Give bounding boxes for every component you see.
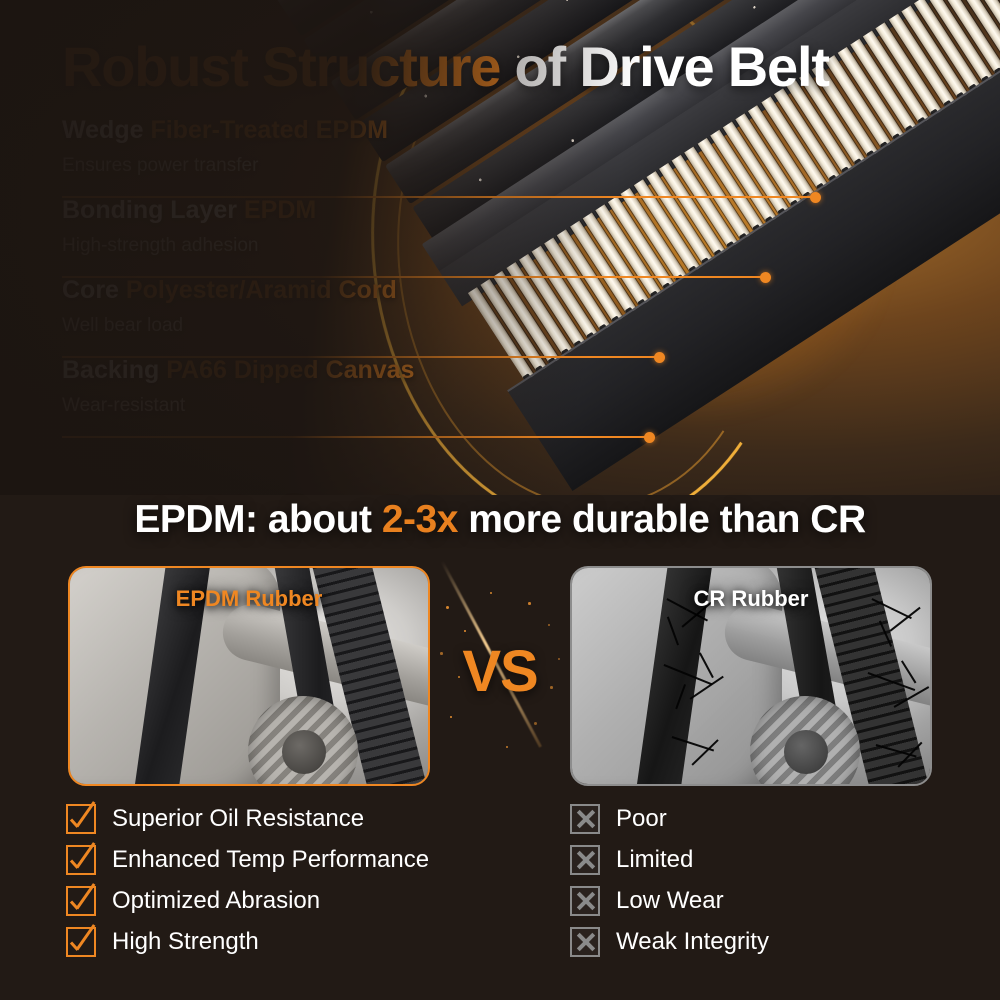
- connector-dot: [644, 432, 655, 443]
- spark-particle: [446, 606, 449, 609]
- cord-filament: [567, 216, 648, 333]
- list-item-label: Weak Integrity: [616, 928, 769, 956]
- structure-row: Core Polyester/Aramid CordWell bear load: [62, 278, 814, 358]
- page-title: Robust Structure of Drive Belt: [62, 34, 829, 99]
- spark-particle: [506, 746, 508, 748]
- cord-filament: [936, 0, 1000, 92]
- structure-row-sub: Ensures power transfer: [62, 155, 814, 177]
- spark-particle: [450, 716, 452, 718]
- cord-layer: [468, 0, 1000, 394]
- cord-filament: [503, 257, 584, 374]
- check-icon: [66, 927, 96, 957]
- backing-tooth: [854, 158, 888, 205]
- amber-arc-decoration-secondary: [373, 0, 793, 495]
- backing-tooth: [548, 357, 582, 404]
- backing-tooth: [892, 133, 926, 180]
- list-item-label: Low Wear: [616, 887, 724, 915]
- spark-particle: [534, 722, 537, 725]
- cross-icon: [570, 804, 600, 834]
- list-item: Weak Integrity: [570, 921, 769, 962]
- connector-dot: [760, 272, 771, 283]
- pulley-hub-shape: [282, 730, 326, 774]
- cord-filament: [962, 0, 1000, 76]
- card-label-cr: CR Rubber: [572, 586, 930, 612]
- list-item-label: Limited: [616, 846, 693, 874]
- cross-icon: [570, 927, 600, 957]
- structure-row-heading: Core Polyester/Aramid Cord: [62, 278, 814, 303]
- cord-filament: [796, 67, 877, 184]
- cord-filament: [758, 92, 839, 209]
- backing-tooth: [599, 323, 633, 370]
- spark-particle: [464, 630, 466, 632]
- list-item: Superior Oil Resistance: [66, 798, 429, 839]
- structure-row-list: Wedge Fiber-Treated EPDMEnsures power tr…: [62, 118, 814, 438]
- cord-filament: [974, 0, 1000, 68]
- cord-filament: [885, 9, 966, 126]
- cord-filament: [516, 249, 597, 366]
- cord-filament: [528, 241, 609, 358]
- cord-filament: [847, 34, 928, 151]
- cord-filament: [770, 83, 851, 200]
- cord-filament: [592, 199, 673, 316]
- cord-filament: [554, 224, 635, 341]
- structure-row: Bonding Layer EPDMHigh-strength adhesion: [62, 198, 814, 278]
- connector-line: [62, 276, 764, 278]
- check-icon: [66, 845, 96, 875]
- structure-row-name: Wedge: [62, 116, 144, 144]
- pulley-hub-shape: [784, 730, 828, 774]
- cord-filament: [732, 108, 813, 225]
- check-icon: [66, 804, 96, 834]
- structure-row: Wedge Fiber-Treated EPDMEnsures power tr…: [62, 118, 814, 198]
- banner-highlight: 2-3x: [382, 498, 458, 541]
- backing-tooth: [943, 100, 977, 147]
- structure-row-sub: High-strength adhesion: [62, 235, 814, 257]
- cross-icon: [570, 886, 600, 916]
- bonding-layer-face: [422, 0, 1000, 273]
- cord-filament: [707, 125, 788, 242]
- list-item: Limited: [570, 839, 769, 880]
- backing-tooth: [828, 174, 862, 221]
- backing-tooth: [561, 348, 595, 395]
- backing-tooth: [815, 183, 849, 230]
- cord-filament: [579, 208, 660, 325]
- cord-filament: [490, 266, 571, 383]
- hero-section: Robust Structure of Drive Belt Wedge Fib…: [0, 0, 1000, 495]
- structure-row-heading: Bonding Layer EPDM: [62, 198, 814, 223]
- backing-tooth: [662, 282, 696, 329]
- list-item: Enhanced Temp Performance: [66, 839, 429, 880]
- cross-icon: [570, 845, 600, 875]
- structure-row-value: Fiber-Treated EPDM: [150, 116, 388, 144]
- banner-pre: EPDM: about: [134, 498, 381, 541]
- spark-particle: [528, 602, 531, 605]
- epdm-benefit-list: Superior Oil ResistanceEnhanced Temp Per…: [66, 798, 429, 962]
- cord-filament: [834, 42, 915, 159]
- backing-tooth: [930, 108, 964, 155]
- structure-row: Backing PA66 Dipped CanvasWear-resistant: [62, 358, 814, 438]
- cord-filament: [923, 0, 1000, 101]
- cord-filament: [541, 232, 622, 349]
- backing-tooth: [739, 232, 773, 279]
- structure-row-heading: Backing PA66 Dipped Canvas: [62, 358, 814, 383]
- structure-row-name: Core: [62, 276, 119, 304]
- cord-filament: [643, 166, 724, 283]
- backing-tooth: [713, 249, 747, 296]
- cord-filament: [468, 282, 546, 394]
- connector-dot: [810, 192, 821, 203]
- durability-banner: EPDM: about 2-3x more durable than CR: [0, 498, 1000, 560]
- connector-line: [62, 196, 814, 198]
- banner-post: more durable than CR: [458, 498, 866, 541]
- cord-filament: [783, 75, 864, 192]
- backing-tooth: [522, 373, 556, 420]
- check-icon: [66, 886, 96, 916]
- backing-tooth: [917, 117, 951, 164]
- belt-cutaway-body: [226, 0, 1000, 495]
- cord-filament: [668, 150, 749, 267]
- backing-teeth: [522, 0, 1000, 421]
- connector-line: [62, 436, 648, 438]
- structure-row-sub: Wear-resistant: [62, 395, 814, 417]
- amber-arc-decoration: [344, 0, 820, 495]
- vs-badge: VS: [430, 566, 570, 788]
- cord-filament: [618, 183, 699, 300]
- cord-filament: [745, 100, 826, 217]
- connector-line: [62, 356, 658, 358]
- backing-tooth: [624, 307, 658, 354]
- vs-label: VS: [430, 638, 570, 705]
- backing-tooth: [994, 67, 1000, 114]
- list-item: High Strength: [66, 921, 429, 962]
- spark-particle: [490, 592, 492, 594]
- list-item-label: Poor: [616, 805, 667, 833]
- backing-tooth: [841, 166, 875, 213]
- cord-filament: [872, 17, 953, 134]
- cord-filament: [898, 1, 979, 118]
- list-item-label: Optimized Abrasion: [112, 887, 320, 915]
- cord-filament: [630, 174, 711, 291]
- infographic-page: Robust Structure of Drive Belt Wedge Fib…: [0, 0, 1000, 1000]
- cord-filament: [719, 116, 800, 233]
- backing-tooth: [777, 208, 811, 255]
- cord-filament: [911, 0, 992, 109]
- card-epdm-rubber[interactable]: EPDM Rubber: [68, 566, 430, 786]
- list-item-label: Superior Oil Resistance: [112, 805, 364, 833]
- backing-tooth: [701, 257, 735, 304]
- cord-filament: [656, 158, 737, 275]
- durability-banner-text: EPDM: about 2-3x more durable than CR: [0, 498, 1000, 542]
- structure-row-name: Backing: [62, 356, 159, 384]
- structure-row-value: PA66 Dipped Canvas: [166, 356, 414, 384]
- connector-dot: [654, 352, 665, 363]
- structure-row-sub: Well bear load: [62, 315, 814, 337]
- structure-row-heading: Wedge Fiber-Treated EPDM: [62, 118, 814, 143]
- cord-filament: [809, 59, 890, 176]
- backing-tooth: [535, 365, 569, 412]
- backing-tooth: [981, 75, 1000, 122]
- backing-tooth: [752, 224, 786, 271]
- title-highlight: Robust Structure: [62, 35, 500, 98]
- backing-tooth: [611, 315, 645, 362]
- backing-tooth: [573, 340, 607, 387]
- cord-filament: [860, 25, 941, 142]
- backing-tooth: [790, 199, 824, 246]
- backing-tooth: [968, 83, 1000, 130]
- cord-filament: [477, 274, 558, 391]
- list-item: Poor: [570, 798, 769, 839]
- card-label-epdm: EPDM Rubber: [70, 586, 428, 612]
- backing-tooth: [650, 290, 684, 337]
- backing-tooth: [866, 150, 900, 197]
- cr-drawback-list: PoorLimitedLow WearWeak Integrity: [570, 798, 769, 962]
- cord-filament: [821, 50, 902, 167]
- list-item-label: Enhanced Temp Performance: [112, 846, 429, 874]
- card-cr-rubber[interactable]: CR Rubber: [570, 566, 932, 786]
- structure-row-name: Bonding Layer: [62, 196, 237, 224]
- backing-tooth: [726, 241, 760, 288]
- backing-tooth: [879, 141, 913, 188]
- amber-glow: [430, 40, 950, 470]
- backing-tooth: [803, 191, 837, 238]
- cord-filament: [605, 191, 686, 308]
- benefit-lists: Superior Oil ResistanceEnhanced Temp Per…: [0, 798, 1000, 978]
- cord-filament: [681, 141, 762, 258]
- bonding-layer-side: [439, 0, 1000, 306]
- backing-tooth: [764, 216, 798, 263]
- backing-tooth: [637, 299, 671, 346]
- backing-tooth: [956, 92, 990, 139]
- backing-tooth: [905, 125, 939, 172]
- list-item: Low Wear: [570, 880, 769, 921]
- cord-filament: [987, 0, 1000, 59]
- cord-filament: [949, 0, 1000, 84]
- backing-tooth: [586, 332, 620, 379]
- structure-row-value: EPDM: [244, 196, 316, 224]
- backing-canvas: [507, 0, 1000, 491]
- drive-belt-illustration: [430, 0, 1000, 495]
- list-item: Optimized Abrasion: [66, 880, 429, 921]
- backing-tooth: [688, 266, 722, 313]
- title-rest: of Drive Belt: [500, 35, 829, 98]
- structure-row-value: Polyester/Aramid Cord: [126, 276, 397, 304]
- cord-filament: [694, 133, 775, 250]
- list-item-label: High Strength: [112, 928, 259, 956]
- backing-tooth: [675, 274, 709, 321]
- spark-particle: [548, 624, 550, 626]
